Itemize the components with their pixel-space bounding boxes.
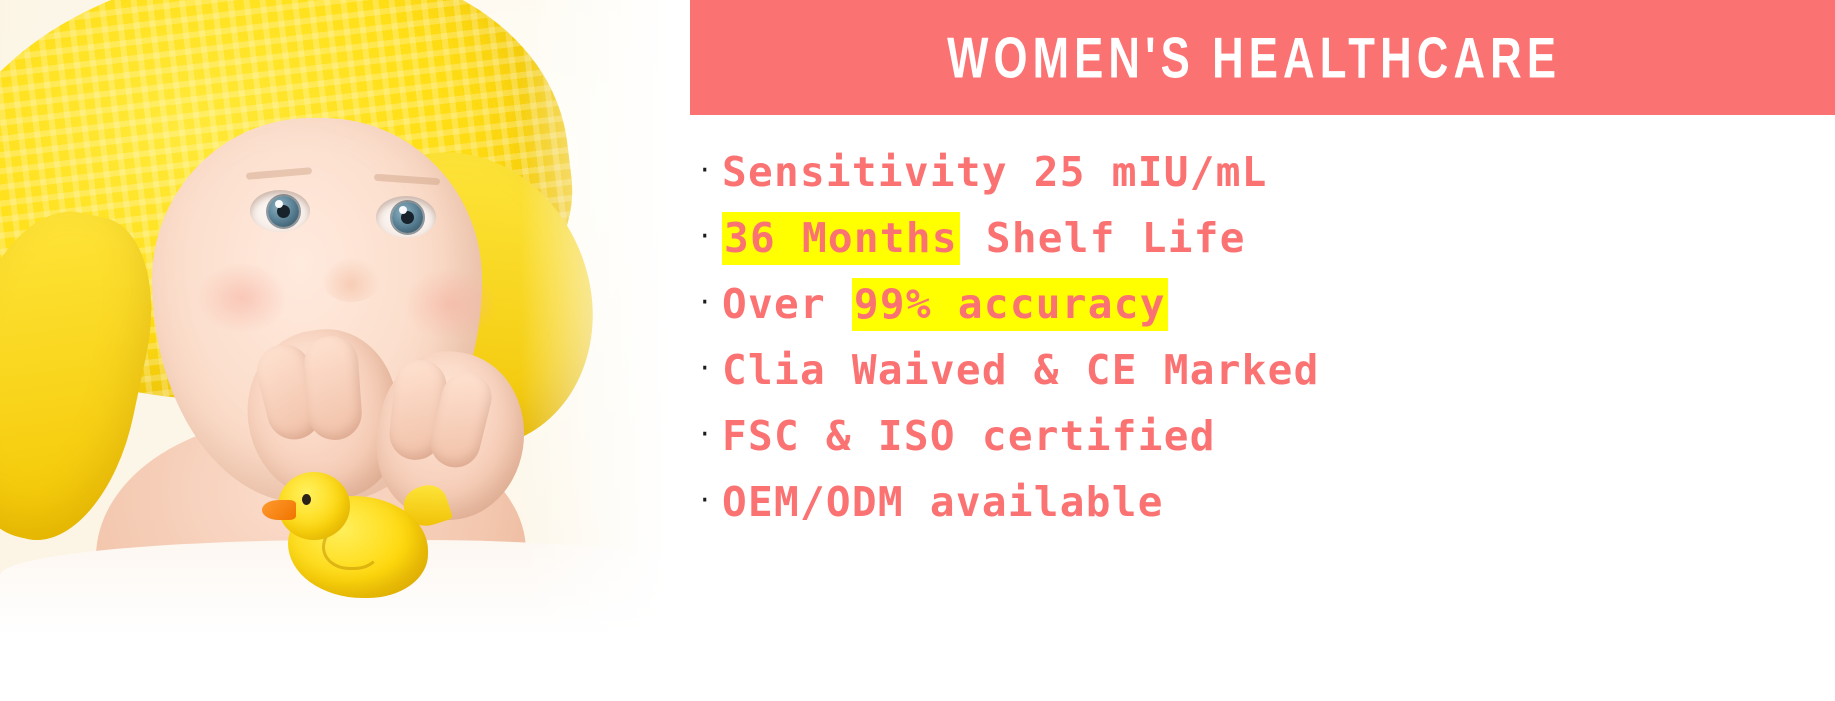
feature-list-item-label: Over 99% accuracy [722, 283, 1168, 326]
feature-list-item: ·Sensitivity 25 mIU/mL [700, 140, 1820, 206]
plain-text: Sensitivity 25 mIU/mL [722, 148, 1268, 196]
page-title: WOMEN'S HEALTHCARE [947, 29, 1561, 86]
feature-list-item: ·Over 99% accuracy [700, 272, 1820, 338]
bullet-dot-icon: · [700, 288, 722, 318]
rubber-duck-eye [302, 494, 311, 505]
feature-list: ·Sensitivity 25 mIU/mL·36 Months Shelf L… [700, 140, 1820, 536]
feature-list-item-label: OEM/ODM available [722, 481, 1164, 524]
baby-eye-glint-right [399, 206, 407, 214]
bullet-dot-icon: · [700, 222, 722, 252]
feature-list-item-label: Clia Waived & CE Marked [722, 349, 1320, 392]
baby-cheek-left [196, 262, 288, 334]
bullet-dot-icon: · [700, 420, 722, 450]
highlighted-text: 36 Months [722, 212, 960, 265]
photo-right-fade [520, 0, 690, 701]
feature-list-item: ·36 Months Shelf Life [700, 206, 1820, 272]
header-banner: WOMEN'S HEALTHCARE [674, 0, 1835, 115]
feature-list-item-label: Sensitivity 25 mIU/mL [722, 151, 1268, 194]
baby-cheek-right [404, 268, 496, 340]
feature-list-item: ·Clia Waived & CE Marked [700, 338, 1820, 404]
baby-finger-2 [302, 334, 363, 442]
content-panel: WOMEN'S HEALTHCARE ·Sensitivity 25 mIU/m… [674, 0, 1835, 701]
plain-text: Clia Waived & CE Marked [722, 346, 1320, 394]
plain-text: Shelf Life [960, 214, 1246, 262]
feature-list-item: ·FSC & ISO certified [700, 404, 1820, 470]
plain-text: Over [722, 280, 852, 328]
bullet-dot-icon: · [700, 486, 722, 516]
feature-list-item-label: FSC & ISO certified [722, 415, 1216, 458]
promo-banner: WOMEN'S HEALTHCARE ·Sensitivity 25 mIU/m… [0, 0, 1835, 701]
bullet-dot-icon: · [700, 354, 722, 384]
plain-text: OEM/ODM available [722, 478, 1164, 526]
plain-text: FSC & ISO certified [722, 412, 1216, 460]
highlighted-text: 99% accuracy [852, 278, 1168, 331]
feature-list-item: ·OEM/ODM available [700, 470, 1820, 536]
rubber-duck-beak [262, 500, 296, 520]
bullet-dot-icon: · [700, 156, 722, 186]
feature-list-item-label: 36 Months Shelf Life [722, 217, 1246, 260]
baby-eye-glint-left [275, 200, 283, 208]
baby-nose [322, 258, 380, 302]
baby-photo [0, 0, 690, 701]
